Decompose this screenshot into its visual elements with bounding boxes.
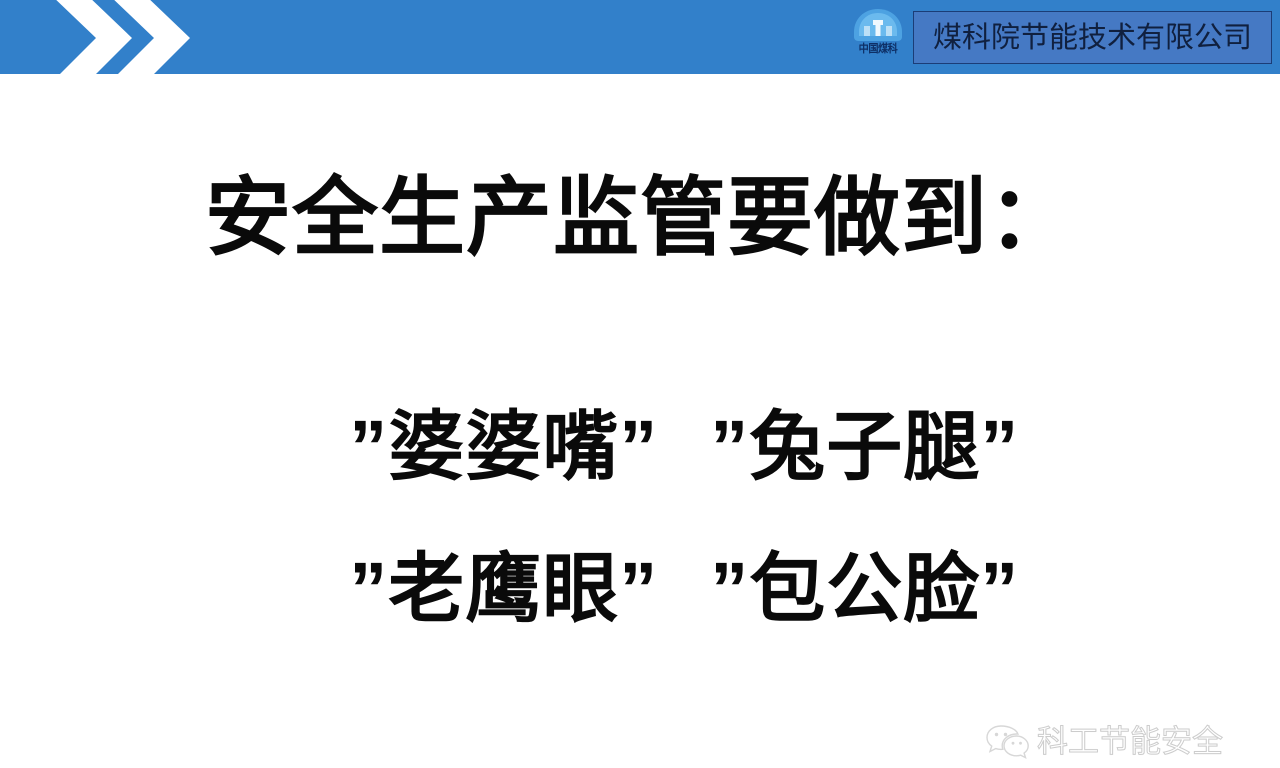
china-coal-emblem-icon <box>851 8 905 42</box>
company-name-label: 煤科院节能技术有限公司 <box>933 22 1252 54</box>
phrase-row-2: ”老鹰眼””包公脸” <box>0 458 1280 722</box>
phrase-baogonglian: ”包公脸” <box>710 547 1019 632</box>
wechat-watermark: 科工节能安全 <box>985 716 1255 768</box>
company-logo: 中国煤科 <box>842 8 914 72</box>
slide-heading: 安全生产监管要做到： <box>0 170 1280 266</box>
double-chevron-right-icon <box>46 0 206 80</box>
company-name-textbox[interactable]: 煤科院节能技术有限公司 <box>913 11 1272 64</box>
slide-header-bar: 中国煤科 煤科院节能技术有限公司 <box>0 0 1280 74</box>
company-logo-caption: 中国煤科 <box>859 43 898 55</box>
phrase-laoyingyan: ”老鹰眼” <box>349 547 658 632</box>
slide-content-area: 安全生产监管要做到： ”婆婆嘴””兔子腿” ”老鹰眼””包公脸” 科工节能安全 <box>0 74 1280 720</box>
watermark-label: 科工节能安全 <box>1037 725 1223 759</box>
wechat-icon <box>985 723 1029 761</box>
